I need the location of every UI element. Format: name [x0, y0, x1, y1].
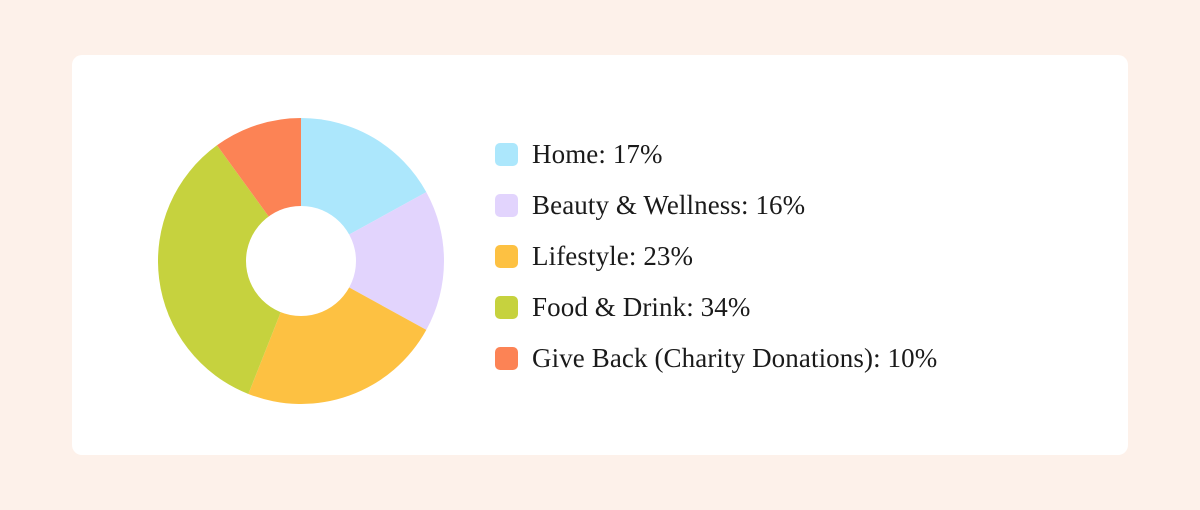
legend-label-home: Home: 17%	[532, 141, 663, 168]
legend-item-home[interactable]: Home: 17%	[495, 129, 1095, 180]
legend-label-food-drink: Food & Drink: 34%	[532, 294, 750, 321]
donut-chart	[158, 118, 444, 404]
page-root: Home: 17% Beauty & Wellness: 16% Lifesty…	[0, 0, 1200, 510]
legend-item-beauty-wellness[interactable]: Beauty & Wellness: 16%	[495, 180, 1095, 231]
chart-card: Home: 17% Beauty & Wellness: 16% Lifesty…	[72, 55, 1128, 455]
legend-label-beauty-wellness: Beauty & Wellness: 16%	[532, 192, 805, 219]
legend-swatch-give-back	[495, 347, 518, 370]
donut-hole	[246, 206, 356, 316]
legend-swatch-food-drink	[495, 296, 518, 319]
donut-chart-svg	[158, 118, 444, 404]
legend-label-give-back: Give Back (Charity Donations): 10%	[532, 345, 937, 372]
legend-item-lifestyle[interactable]: Lifestyle: 23%	[495, 231, 1095, 282]
legend-label-lifestyle: Lifestyle: 23%	[532, 243, 693, 270]
legend-item-give-back[interactable]: Give Back (Charity Donations): 10%	[495, 333, 1095, 384]
legend-swatch-beauty-wellness	[495, 194, 518, 217]
legend-swatch-home	[495, 143, 518, 166]
legend-item-food-drink[interactable]: Food & Drink: 34%	[495, 282, 1095, 333]
chart-legend: Home: 17% Beauty & Wellness: 16% Lifesty…	[495, 129, 1095, 384]
legend-swatch-lifestyle	[495, 245, 518, 268]
